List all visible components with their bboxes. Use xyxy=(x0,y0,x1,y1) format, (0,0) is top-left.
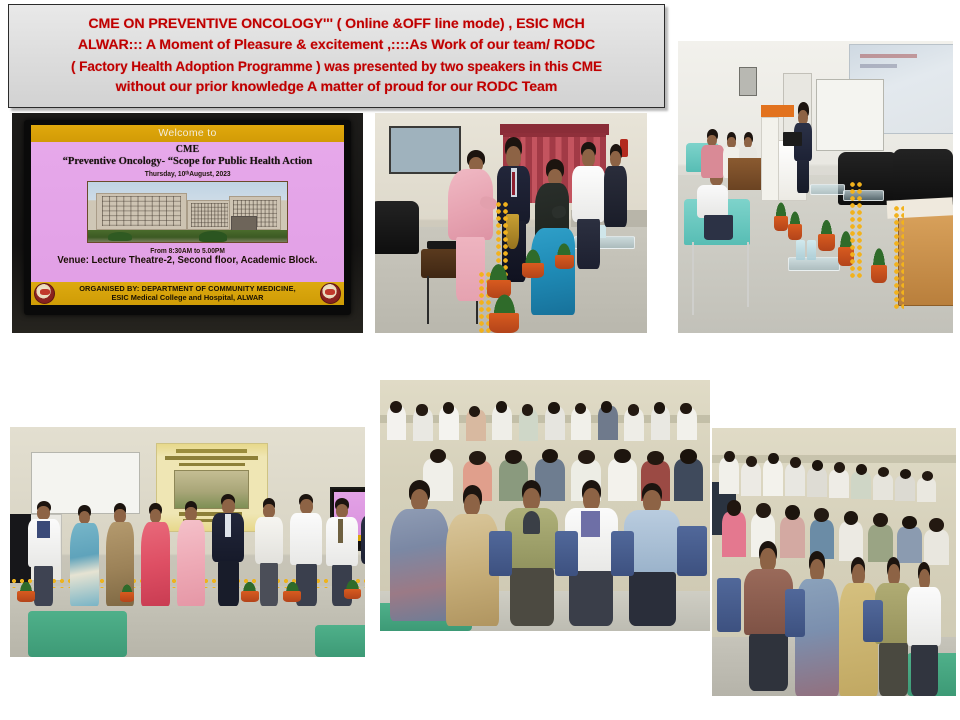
person-group-member xyxy=(70,505,98,606)
person-front-row xyxy=(907,562,941,696)
person-group-member xyxy=(141,503,169,607)
potted-plant xyxy=(283,583,301,601)
slide-time: From 8:30AM to 5.00PM xyxy=(150,246,225,255)
seat xyxy=(677,526,707,576)
chair-leg xyxy=(427,276,429,324)
person-group-member xyxy=(177,501,205,607)
esic-logo-icon xyxy=(34,283,55,304)
display-screen: Welcome to CME “Preventive Oncology- “Sc… xyxy=(31,125,343,305)
potted-plant xyxy=(344,581,362,599)
potted-plant xyxy=(241,583,259,601)
potted-plant xyxy=(788,213,802,239)
whiteboard xyxy=(816,79,884,151)
header-line-1: CME ON PREVENTIVE ONCOLOGY''' ( Online &… xyxy=(88,14,584,35)
header-text-box[interactable]: CME ON PREVENTIVE ONCOLOGY''' ( Online &… xyxy=(8,4,665,108)
marigold-garland xyxy=(849,181,863,280)
person-speaker xyxy=(794,102,813,193)
esic-logo-icon xyxy=(320,283,341,304)
laptop xyxy=(783,132,802,147)
wooden-desk xyxy=(728,158,761,190)
seat xyxy=(863,600,883,643)
person-white-shirt-man xyxy=(571,142,606,270)
photo-audience-center[interactable] xyxy=(380,380,710,631)
podium-banner xyxy=(761,105,794,117)
audience-back-row xyxy=(712,449,956,503)
photo-cme-slide-projection[interactable]: Welcome to CME “Preventive Oncology- “Sc… xyxy=(12,113,363,333)
potted-plant xyxy=(522,252,544,278)
wall-frame xyxy=(739,67,758,95)
seat xyxy=(489,531,512,576)
seat xyxy=(611,531,634,576)
chair-leg xyxy=(692,242,694,315)
person-front-row xyxy=(390,480,449,621)
water-bottle xyxy=(796,240,804,260)
green-bench xyxy=(315,625,365,657)
potted-plant xyxy=(818,222,835,251)
potted-plant xyxy=(871,251,888,283)
photo-audience-right[interactable] xyxy=(712,428,956,696)
seat xyxy=(785,589,805,637)
person-group-member xyxy=(212,494,244,607)
person-group-member xyxy=(255,498,283,606)
potted-plant xyxy=(17,583,35,601)
marigold-garland xyxy=(893,205,904,310)
seat xyxy=(555,531,578,576)
slide-venue: Venue: Lecture Theatre-2, Second floor, … xyxy=(57,255,317,266)
slide-hospital-photo xyxy=(87,181,289,244)
slide-organiser-line-2: ESIC Medical College and Hospital, ALWAR xyxy=(61,293,313,302)
chair-leg xyxy=(747,242,749,306)
seat xyxy=(717,578,741,632)
slide-event-label: CME xyxy=(176,144,199,155)
person-front-row xyxy=(505,480,558,626)
photo-speaker-at-podium[interactable] xyxy=(678,41,953,333)
person-background xyxy=(603,144,627,228)
person-group-member xyxy=(361,496,365,606)
glass-side-table xyxy=(810,184,845,195)
slide-title: “Preventive Oncology- “Scope for Public … xyxy=(63,155,313,168)
wooden-lectern xyxy=(898,210,953,305)
slide-organiser-bar: ORGANISED BY: DEPARTMENT OF COMMUNITY ME… xyxy=(31,282,343,305)
photo-faculty-group[interactable] xyxy=(10,427,365,657)
green-bench xyxy=(28,611,127,657)
black-sofa xyxy=(375,201,419,254)
slide-welcome-bar: Welcome to xyxy=(31,125,343,142)
header-line-2: ALWAR::: A Moment of Pleasure & exciteme… xyxy=(78,35,595,56)
photo-lamp-lighting-ceremony[interactable] xyxy=(375,113,647,333)
potted-plant xyxy=(555,245,574,269)
podium-stand xyxy=(761,117,780,201)
header-line-4: without our prior knowledge A matter of … xyxy=(116,77,558,98)
slide-organiser-line-1: ORGANISED BY: DEPARTMENT OF COMMUNITY ME… xyxy=(61,284,313,293)
display-bezel: Welcome to CME “Preventive Oncology- “Sc… xyxy=(24,120,350,316)
water-bottle xyxy=(807,240,815,260)
slide-date: Thursday, 10ᵗʰAugust, 2023 xyxy=(145,169,231,178)
header-line-3: ( Factory Health Adoption Programme ) wa… xyxy=(71,56,602,77)
slide-body: CME “Preventive Oncology- “Scope for Pub… xyxy=(31,142,343,282)
potted-plant xyxy=(120,586,134,602)
potted-plant xyxy=(489,298,519,333)
potted-plant xyxy=(774,205,788,231)
